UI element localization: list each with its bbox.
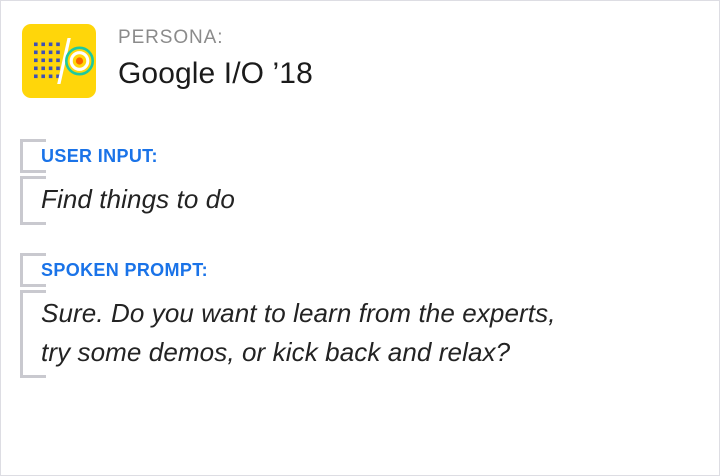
spoken-prompt-label: SPOKEN PROMPT:: [41, 259, 208, 281]
persona-label: PERSONA:: [118, 26, 313, 50]
spoken-prompt-label-bracket: SPOKEN PROMPT:: [20, 253, 556, 287]
text-line: Sure. Do you want to learn from the expe…: [41, 294, 556, 333]
logo-center-dot: [76, 57, 83, 64]
persona-value: Google I/O ’18: [118, 55, 313, 93]
spoken-prompt-body-bracket: Sure. Do you want to learn from the expe…: [20, 290, 556, 378]
spoken-prompt-block: SPOKEN PROMPT: Sure. Do you want to lear…: [20, 253, 556, 378]
text-line: Find things to do: [41, 180, 235, 219]
text-line: try some demos, or kick back and relax?: [41, 333, 556, 372]
persona-header: PERSONA: Google I/O ’18: [22, 24, 313, 98]
user-input-text: Find things to do: [41, 180, 235, 219]
logo-dot-grid: [34, 43, 60, 79]
persona-dialogue-card: PERSONA: Google I/O ’18 USER INPUT: Find…: [0, 0, 720, 476]
persona-text-group: PERSONA: Google I/O ’18: [118, 24, 313, 93]
user-input-label-bracket: USER INPUT:: [20, 139, 235, 173]
google-io-logo: [22, 24, 96, 98]
user-input-label: USER INPUT:: [41, 145, 158, 167]
user-input-block: USER INPUT: Find things to do: [20, 139, 235, 225]
spoken-prompt-text: Sure. Do you want to learn from the expe…: [41, 294, 556, 372]
user-input-body-bracket: Find things to do: [20, 176, 235, 225]
